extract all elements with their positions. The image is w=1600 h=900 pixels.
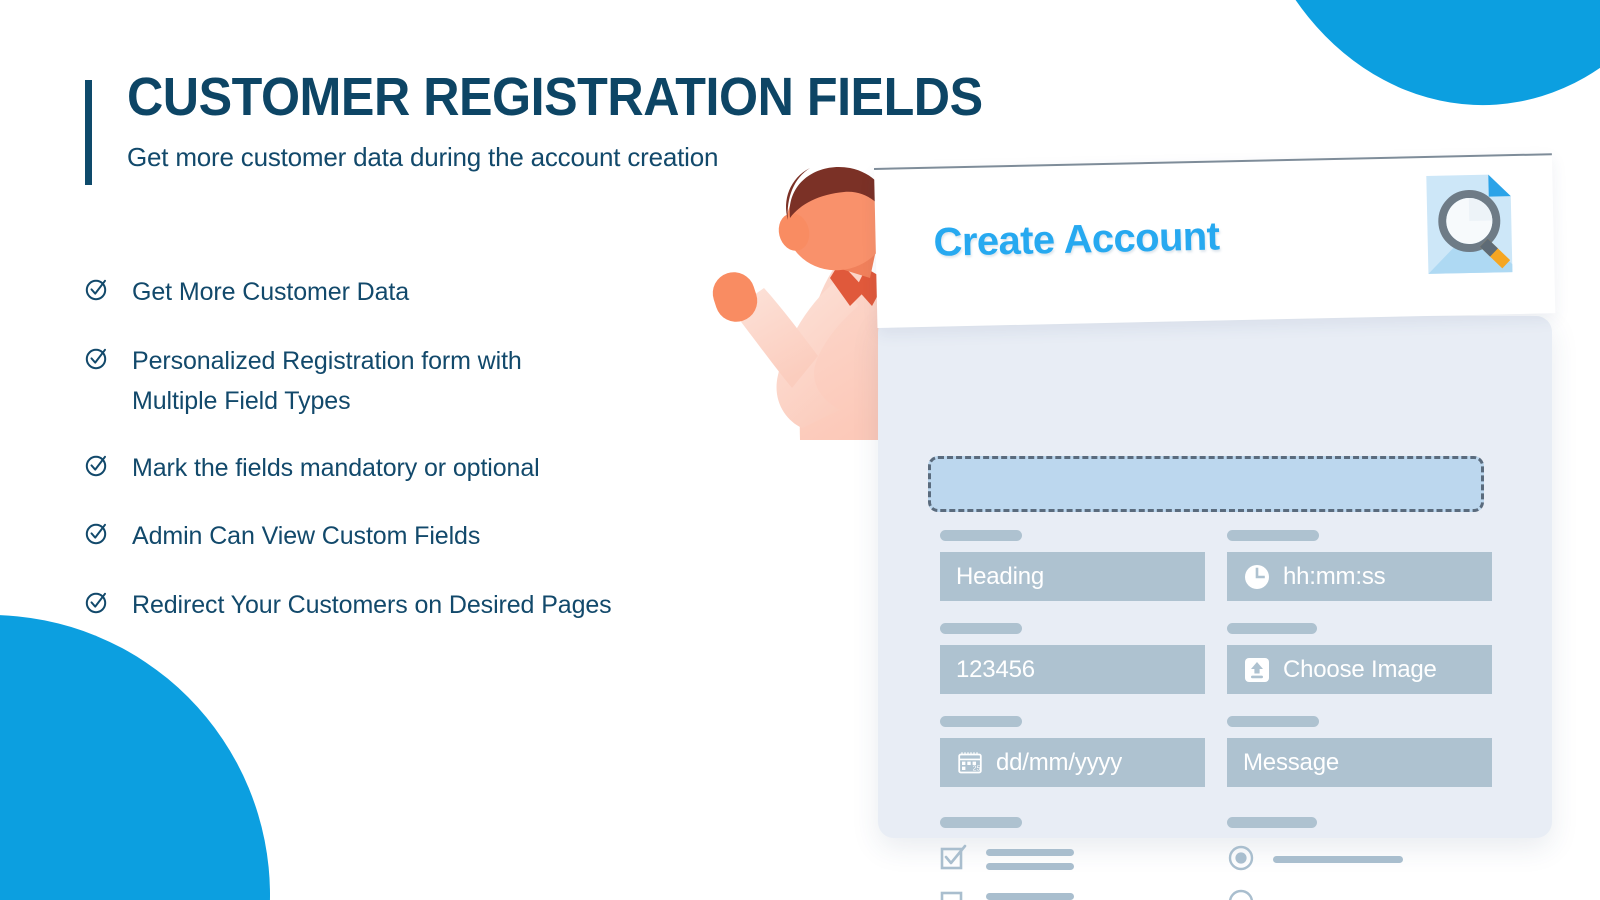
poster-canvas: CUSTOMER REGISTRATION FIELDS Get more cu… [0, 0, 1600, 900]
radio-option-selected[interactable] [1227, 844, 1492, 874]
radio-options [1227, 844, 1492, 900]
number-input-value: 123456 [956, 656, 1035, 684]
list-item: Personalized Registration form with Mult… [84, 341, 784, 422]
form-field-number: 123456 [940, 623, 1205, 694]
checkbox-options [940, 844, 1205, 900]
form-card-body: Heading hh:mm:ss [878, 316, 1552, 838]
check-circle-icon [84, 589, 110, 615]
list-item: Mark the fields mandatory or optional [84, 448, 784, 489]
checkbox-checked-icon [940, 844, 970, 874]
date-input-value: dd/mm/yyyy [996, 749, 1122, 777]
form-field-grid: Heading hh:mm:ss [940, 530, 1492, 900]
title-row: CUSTOMER REGISTRATION FIELDS Get more cu… [85, 70, 845, 173]
list-item: Get More Customer Data [84, 272, 784, 313]
form-card-header: Create Account [874, 153, 1555, 328]
check-circle-icon [84, 452, 110, 478]
field-label-placeholder [1227, 716, 1319, 727]
document-search-icon [1410, 168, 1522, 280]
card-title: Create Account [933, 214, 1220, 265]
dashed-placeholder-region [928, 456, 1484, 512]
choice-groups-row [940, 817, 1492, 900]
form-field-date: 25 dd/mm/yyyy [940, 716, 1205, 787]
decorative-blob-top-right [1239, 0, 1600, 121]
field-label-placeholder [1227, 623, 1317, 634]
radio-option-unselected[interactable] [1227, 888, 1492, 900]
calendar-icon: 25 [956, 749, 984, 777]
clock-icon [1243, 563, 1271, 591]
list-item-label: Admin Can View Custom Fields [132, 516, 480, 557]
radio-option-label-placeholder [1273, 856, 1403, 863]
registration-form-card: Heading hh:mm:ss [874, 168, 1552, 838]
number-input[interactable]: 123456 [940, 645, 1205, 694]
decorative-blob-bottom-left [0, 615, 270, 900]
time-input-value: hh:mm:ss [1283, 563, 1385, 591]
intro-block: CUSTOMER REGISTRATION FIELDS Get more cu… [85, 70, 845, 173]
list-item-label: Mark the fields mandatory or optional [132, 448, 540, 489]
list-item-label: Get More Customer Data [132, 272, 409, 313]
time-input[interactable]: hh:mm:ss [1227, 552, 1492, 601]
heading-input-value: Heading [956, 563, 1044, 591]
check-circle-icon [84, 520, 110, 546]
checkbox-option-label-placeholder [986, 893, 1074, 900]
checkbox-unchecked-icon [940, 888, 970, 900]
checkbox-option-unchecked[interactable] [940, 888, 1205, 900]
svg-text:25: 25 [973, 765, 981, 772]
list-item: Admin Can View Custom Fields [84, 516, 784, 557]
field-label-placeholder [940, 623, 1022, 634]
checkbox-group [940, 817, 1205, 900]
list-item-label: Redirect Your Customers on Desired Pages [132, 585, 612, 626]
list-item: Redirect Your Customers on Desired Pages [84, 585, 784, 626]
form-field-time: hh:mm:ss [1227, 530, 1492, 601]
message-input-value: Message [1243, 749, 1339, 777]
form-row: 25 dd/mm/yyyy Message [940, 716, 1492, 787]
checkbox-option-label-placeholder [986, 849, 1074, 870]
form-row: 123456 [940, 623, 1492, 694]
radio-group [1227, 817, 1492, 900]
message-input[interactable]: Message [1227, 738, 1492, 787]
heading-input[interactable]: Heading [940, 552, 1205, 601]
checkbox-option-checked[interactable] [940, 844, 1205, 874]
radio-unselected-icon [1227, 888, 1257, 900]
choose-image-button[interactable]: Choose Image [1227, 645, 1492, 694]
feature-list: Get More Customer Data Personalized Regi… [84, 272, 784, 653]
check-circle-icon [84, 345, 110, 371]
choose-image-label: Choose Image [1283, 656, 1437, 684]
form-field-heading: Heading [940, 530, 1205, 601]
date-input[interactable]: 25 dd/mm/yyyy [940, 738, 1205, 787]
field-label-placeholder [940, 530, 1022, 541]
form-field-image: Choose Image [1227, 623, 1492, 694]
check-circle-icon [84, 276, 110, 302]
field-label-placeholder [1227, 530, 1319, 541]
upload-icon [1243, 656, 1271, 684]
form-row: Heading hh:mm:ss [940, 530, 1492, 601]
field-label-placeholder [940, 716, 1022, 727]
field-label-placeholder [1227, 817, 1317, 828]
form-field-message: Message [1227, 716, 1492, 787]
list-item-label: Personalized Registration form with Mult… [132, 341, 522, 422]
radio-selected-icon [1227, 844, 1257, 874]
title-accent-bar [85, 80, 92, 185]
page-title: CUSTOMER REGISTRATION FIELDS [127, 70, 795, 124]
field-label-placeholder [940, 817, 1022, 828]
